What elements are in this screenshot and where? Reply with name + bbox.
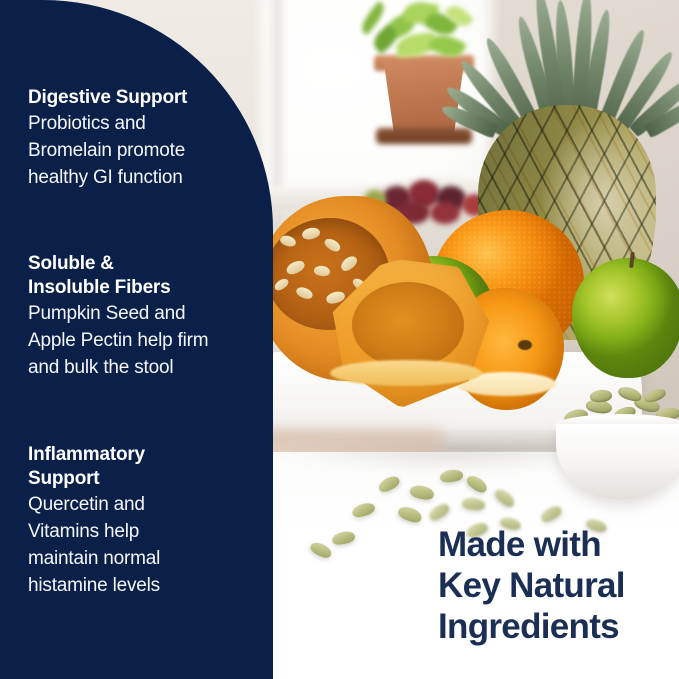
benefit-body-line: Apple Pectin help firm bbox=[28, 330, 208, 351]
benefit-heading: Digestive Support bbox=[28, 86, 260, 110]
product-benefit-graphic: Made with Key Natural Ingredients Digest… bbox=[0, 0, 679, 679]
benefit-heading: Soluble & Insoluble Fibers bbox=[28, 252, 260, 300]
headline-line-1: Made with bbox=[438, 524, 670, 565]
benefit-body: Probiotics and Bromelain promote healthy… bbox=[28, 110, 260, 191]
benefits-list: Digestive Support Probiotics and Bromela… bbox=[28, 0, 260, 679]
benefit-body-line: Pumpkin Seed and bbox=[28, 303, 185, 324]
photo-headline: Made with Key Natural Ingredients bbox=[438, 524, 670, 647]
benefit-body: Pumpkin Seed and Apple Pectin help firm … bbox=[28, 300, 260, 381]
pumpkin-wedge-rind bbox=[330, 360, 482, 386]
benefits-panel: Digestive Support Probiotics and Bromela… bbox=[0, 0, 273, 679]
benefit-body-line: healthy GI function bbox=[28, 167, 183, 188]
benefit-body-line: Quercetin and bbox=[28, 494, 145, 515]
orange-navel bbox=[518, 340, 532, 350]
benefit-body-line: histamine levels bbox=[28, 575, 160, 596]
headline-line-3: Ingredients bbox=[438, 606, 670, 647]
benefit-block-inflammatory-support: Inflammatory Support Quercetin and Vitam… bbox=[28, 443, 260, 599]
benefit-heading-line: Support bbox=[28, 468, 99, 489]
benefit-body: Quercetin and Vitamins help maintain nor… bbox=[28, 491, 260, 599]
benefit-heading-line: Soluble & bbox=[28, 253, 114, 274]
benefit-body-line: Probiotics and bbox=[28, 113, 146, 134]
benefit-heading-line: Inflammatory bbox=[28, 444, 145, 465]
apple-right bbox=[572, 258, 679, 378]
benefit-body-line: Bromelain promote bbox=[28, 140, 185, 161]
benefit-heading: Inflammatory Support bbox=[28, 443, 260, 491]
benefit-block-soluble-insoluble-fibers: Soluble & Insoluble Fibers Pumpkin Seed … bbox=[28, 252, 260, 381]
headline-line-2: Key Natural bbox=[438, 565, 670, 606]
plant-pot-saucer bbox=[376, 128, 472, 144]
benefit-heading-line: Insoluble Fibers bbox=[28, 277, 171, 298]
benefit-body-line: maintain normal bbox=[28, 548, 160, 569]
benefit-body-line: and bulk the stool bbox=[28, 357, 173, 378]
benefit-body-line: Vitamins help bbox=[28, 521, 139, 542]
benefit-block-digestive-support: Digestive Support Probiotics and Bromela… bbox=[28, 86, 260, 191]
pumpkin-wedge-flesh bbox=[352, 282, 464, 368]
